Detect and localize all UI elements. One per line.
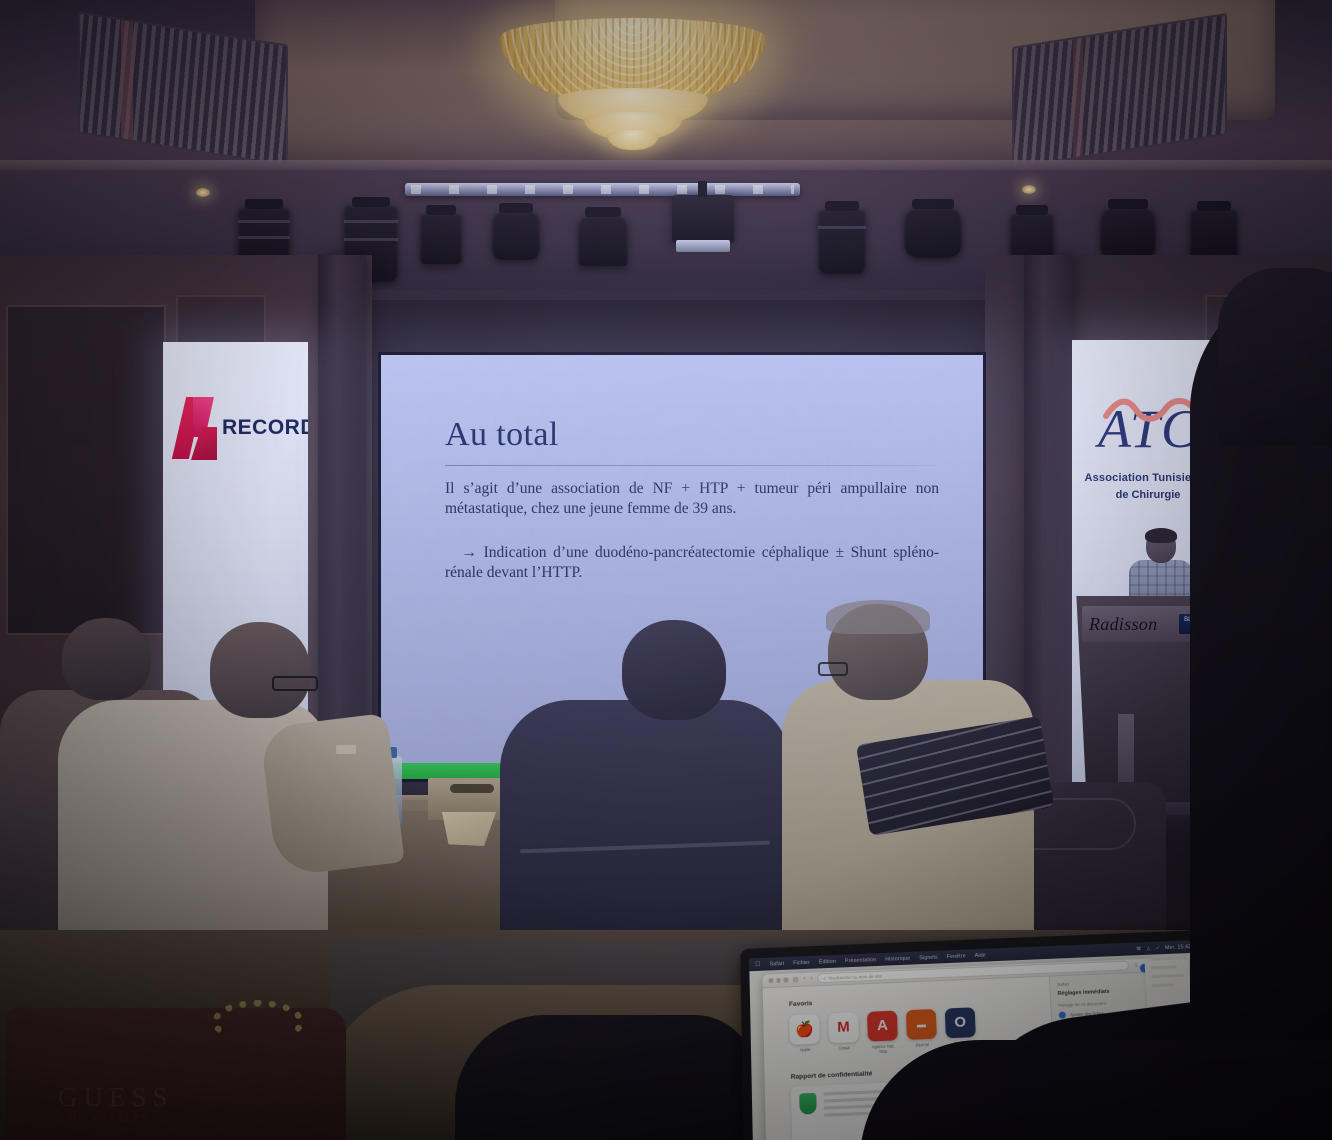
- slide-title: Au total: [445, 417, 949, 453]
- menubar-item-fichier[interactable]: Fichier: [793, 959, 810, 966]
- conference-hall-photo: RECORDATI ATC Association Tunisienne de …: [0, 0, 1332, 1140]
- attendee-4-hair: [826, 600, 930, 634]
- stage-light-4: [492, 210, 540, 260]
- attendee-1-head: [62, 618, 150, 700]
- downlight-3: [1022, 185, 1036, 194]
- stage-light-3: [420, 212, 462, 264]
- agence-icon: A: [867, 1010, 898, 1041]
- menubar-status-3[interactable]: ✓: [1155, 945, 1160, 951]
- gmail-icon: M: [828, 1012, 859, 1043]
- recordati-logo: RECORDATI: [177, 397, 308, 459]
- podium-brand-text: Radisson: [1089, 614, 1157, 635]
- traffic-light-buttons[interactable]: [768, 978, 787, 983]
- share-icon[interactable]: ⇪: [1134, 962, 1139, 969]
- eyeglasses-icon: [272, 676, 318, 691]
- minimize-icon: [776, 978, 781, 983]
- atc-swoosh-icon: [1102, 396, 1194, 422]
- menubar-item-edition[interactable]: Édition: [819, 958, 836, 965]
- menubar-item-safari[interactable]: Safari: [770, 961, 785, 967]
- menubar-status-2[interactable]: △: [1146, 945, 1151, 951]
- chandelier: [500, 0, 765, 152]
- menubar-item-fenetre[interactable]: Fenêtre: [947, 953, 966, 960]
- foreground-person-right-head: [1218, 268, 1332, 446]
- menubar-clock[interactable]: Mer. 15:42: [1165, 944, 1192, 951]
- sidebar-heading: Réglages immédiats: [1058, 987, 1152, 997]
- sidebar-section-1: Partage de ce document: [1058, 998, 1152, 1007]
- podium-panel-slit: [1118, 714, 1134, 786]
- zoom-icon: [783, 978, 788, 983]
- stage-light-6: [818, 208, 866, 274]
- favorite-label-gmail: Gmail: [829, 1044, 859, 1050]
- menubar-item-historique[interactable]: Historique: [885, 955, 910, 962]
- attendee-2-head: [210, 622, 310, 718]
- stage-light-9: [1100, 206, 1156, 260]
- wristwatch: [336, 745, 356, 754]
- menubar-item-signets[interactable]: Signets: [919, 954, 938, 961]
- eyeglasses-icon-2: [818, 662, 848, 676]
- arrow-icon: →: [461, 544, 477, 561]
- handbag-chain: [212, 1000, 304, 1044]
- slide-paragraph-2: → Indication d’une duodéno-pancréatectom…: [445, 542, 939, 584]
- favorite-journal[interactable]: ▬ Journal: [906, 1008, 938, 1052]
- attendee-3-head: [622, 620, 726, 720]
- handbag-brand-subtext: LOS ANGELES: [62, 1114, 151, 1123]
- sidebar-toggle-icon[interactable]: ▤: [793, 976, 799, 983]
- lighting-truss: [405, 183, 800, 196]
- apple-menu-icon[interactable]: : [755, 961, 761, 968]
- favorite-label-apple: Apple: [790, 1046, 820, 1052]
- forward-icon[interactable]: ›: [810, 976, 812, 982]
- back-icon[interactable]: ‹: [803, 976, 805, 982]
- slide-paragraph-1: Il s’agit d’une association de NF + HTP …: [445, 479, 939, 520]
- chandelier-tier-3: [607, 130, 659, 150]
- presentation-slide: Au total Il s’agit d’une association de …: [445, 417, 949, 584]
- projector-mount: [698, 181, 707, 197]
- stage-light-5: [578, 214, 628, 266]
- apple-icon: 🍎: [789, 1013, 820, 1044]
- favorite-label-agence: Agence Nat. Insp: [868, 1043, 898, 1055]
- favorite-label-journal: Journal: [907, 1041, 937, 1047]
- downlight-1: [196, 188, 210, 197]
- address-bar-placeholder: Recherche ou nom de site: [829, 973, 882, 980]
- foreground-person-bottom: [860, 1040, 1332, 1140]
- menubar-item-aide[interactable]: Aide: [975, 952, 986, 958]
- share-contact-icon: [1059, 1011, 1066, 1018]
- presenter-hair: [1145, 528, 1177, 543]
- favorite-agence[interactable]: A Agence Nat. Insp: [867, 1010, 898, 1054]
- slide-title-rule: [445, 465, 935, 466]
- handbag-brand-text: GUESS: [58, 1082, 174, 1113]
- recordati-wordmark: RECORDATI: [222, 416, 308, 440]
- shield-icon: [799, 1093, 817, 1115]
- favorite-apple[interactable]: 🍎 Apple: [789, 1013, 820, 1058]
- sidebar-title: Safari: [1057, 978, 1151, 987]
- favorite-gmail[interactable]: M Gmail: [828, 1012, 859, 1056]
- journal-icon: ▬: [906, 1008, 937, 1039]
- search-icon: ⌕: [823, 976, 826, 981]
- recordati-mark-icon: [177, 397, 219, 459]
- ceiling-projector: [672, 195, 734, 243]
- stage-light-7: [904, 206, 962, 258]
- close-icon: [768, 978, 773, 983]
- menubar-status-1[interactable]: ⌘: [1136, 946, 1142, 952]
- foreground-chair: [455, 1015, 755, 1140]
- attendee-2-arm: [259, 713, 404, 877]
- slide-paragraph-2-text: Indication d’une duodéno-pancréatectomie…: [445, 544, 939, 581]
- menubar-item-presentation[interactable]: Présentation: [845, 957, 876, 964]
- outlook-icon: O: [945, 1007, 976, 1038]
